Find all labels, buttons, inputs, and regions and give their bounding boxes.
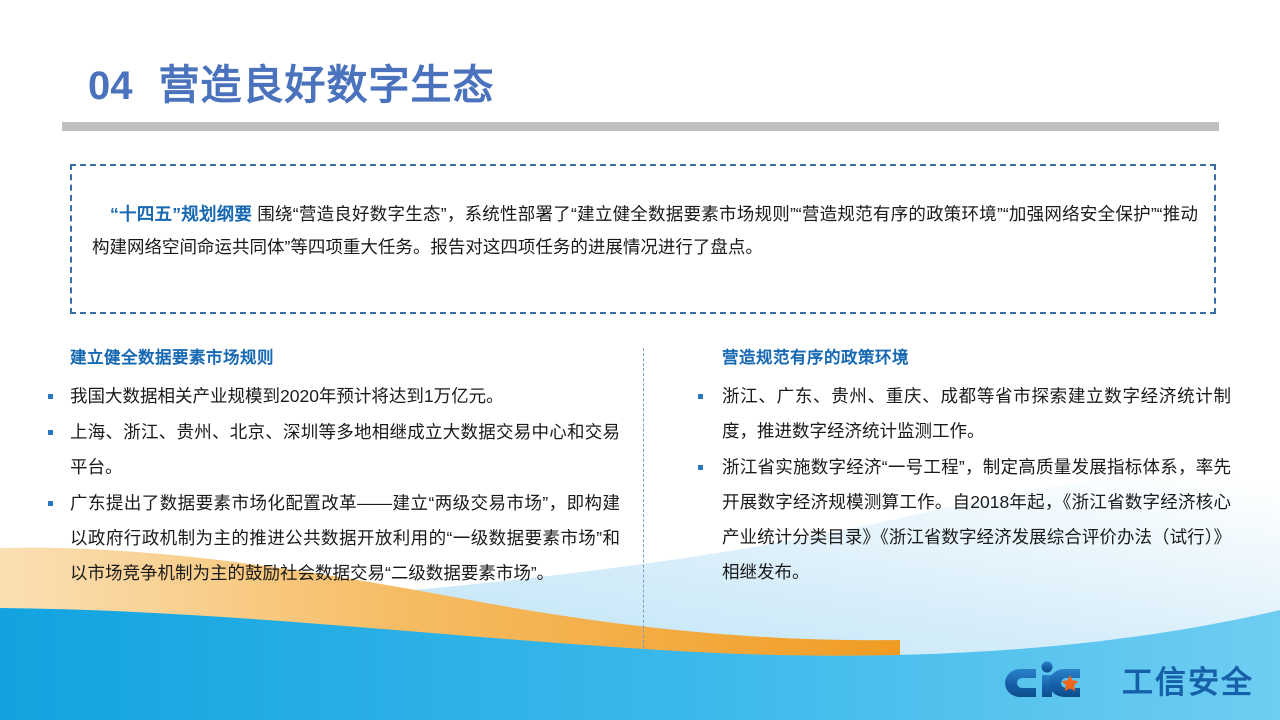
list-item: 浙江省实施数字经济“一号工程”，制定高质量发展指标体系，率先开展数字经济规模测算… <box>686 450 1231 590</box>
bullet-square-icon <box>698 465 703 470</box>
section-title: 营造良好数字生态 <box>159 51 495 111</box>
cic-logo-icon <box>1000 660 1118 704</box>
callout-emphasis: “十四五”规划纲要 <box>110 204 252 224</box>
page-title: 04 营造良好数字生态 <box>88 51 495 111</box>
company-logo: 工信安全 <box>1000 660 1254 704</box>
column-left-bullet-list: 我国大数据相关产业规模到2020年预计将达到1万亿元。 上海、浙江、贵州、北京、… <box>40 379 620 591</box>
header-divider-rule <box>62 122 1219 131</box>
callout-body: 围绕“营造良好数字生态”，系统性部署了“建立健全数据要素市场规则”“营造规范有序… <box>92 204 1198 257</box>
logo-wordmark: 工信安全 <box>1122 667 1254 698</box>
list-item-text: 我国大数据相关产业规模到2020年预计将达到1万亿元。 <box>70 386 504 406</box>
column-left: 建立健全数据要素市场规则 我国大数据相关产业规模到2020年预计将达到1万亿元。… <box>40 344 620 592</box>
list-item-text: 浙江、广东、贵州、重庆、成都等省市探索建立数字经济统计制度，推进数字经济统计监测… <box>722 386 1231 441</box>
section-number: 04 <box>88 64 133 109</box>
column-left-heading: 建立健全数据要素市场规则 <box>70 344 620 368</box>
content-columns: 建立健全数据要素市场规则 我国大数据相关产业规模到2020年预计将达到1万亿元。… <box>0 344 1280 674</box>
bullet-square-icon <box>48 394 53 399</box>
bullet-square-icon <box>48 430 53 435</box>
list-item: 浙江、广东、贵州、重庆、成都等省市探索建立数字经济统计制度，推进数字经济统计监测… <box>686 379 1231 449</box>
column-right-heading: 营造规范有序的政策环境 <box>722 344 1231 368</box>
list-item: 上海、浙江、贵州、北京、深圳等多地相继成立大数据交易中心和交易平台。 <box>40 415 620 485</box>
callout-paragraph: “十四五”规划纲要 围绕“营造良好数字生态”，系统性部署了“建立健全数据要素市场… <box>92 198 1198 264</box>
list-item-text: 浙江省实施数字经济“一号工程”，制定高质量发展指标体系，率先开展数字经济规模测算… <box>722 457 1231 582</box>
list-item: 我国大数据相关产业规模到2020年预计将达到1万亿元。 <box>40 379 620 414</box>
list-item-text: 上海、浙江、贵州、北京、深圳等多地相继成立大数据交易中心和交易平台。 <box>70 422 620 477</box>
bullet-square-icon <box>698 394 703 399</box>
summary-callout-box: “十四五”规划纲要 围绕“营造良好数字生态”，系统性部署了“建立健全数据要素市场… <box>70 164 1216 314</box>
column-right: 营造规范有序的政策环境 浙江、广东、贵州、重庆、成都等省市探索建立数字经济统计制… <box>686 344 1231 591</box>
list-item-text: 广东提出了数据要素市场化配置改革——建立“两级交易市场”，即构建以政府行政机制为… <box>70 493 620 583</box>
column-right-bullet-list: 浙江、广东、贵州、重庆、成都等省市探索建立数字经济统计制度，推进数字经济统计监测… <box>686 379 1231 590</box>
list-item: 广东提出了数据要素市场化配置改革——建立“两级交易市场”，即构建以政府行政机制为… <box>40 486 620 591</box>
column-divider <box>643 348 644 648</box>
slide-canvas: 04 营造良好数字生态 “十四五”规划纲要 围绕“营造良好数字生态”，系统性部署… <box>0 0 1280 720</box>
bullet-square-icon <box>48 501 53 506</box>
